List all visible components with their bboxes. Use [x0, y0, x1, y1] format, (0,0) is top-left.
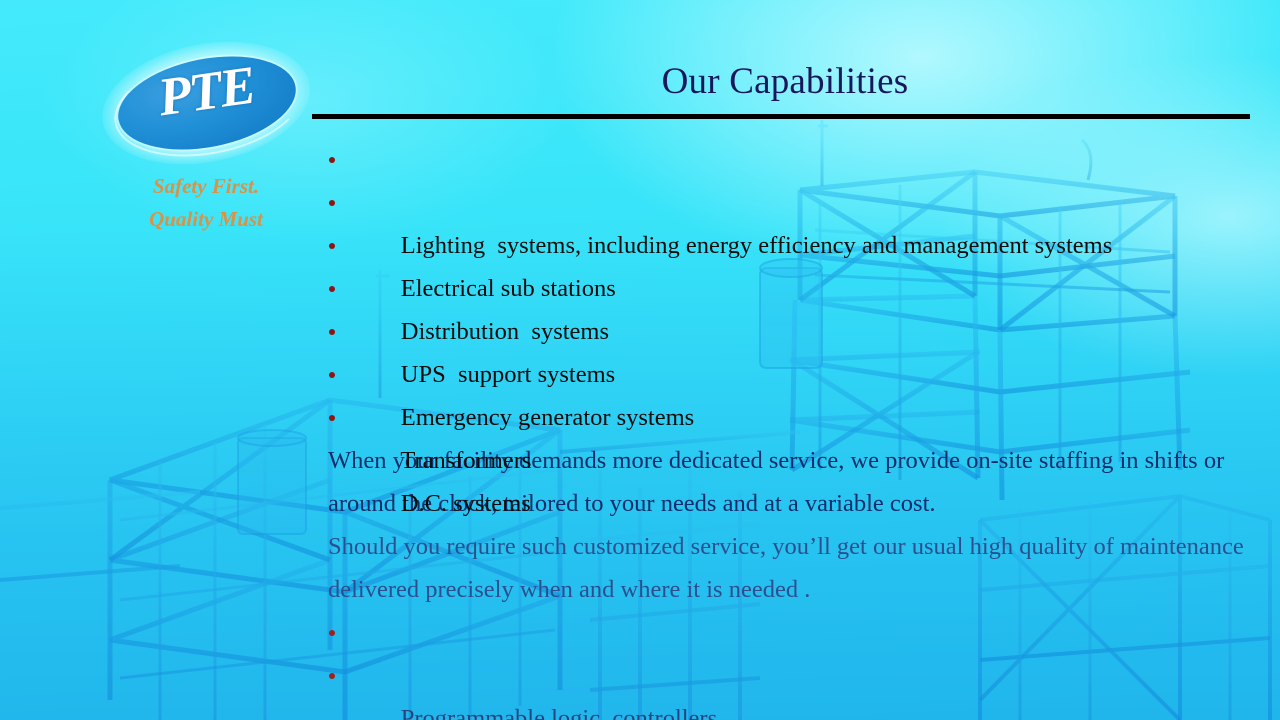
page-title: Our Capabilities — [310, 62, 1260, 103]
logo-tagline-line-2: Quality Must — [96, 203, 316, 236]
content-body: Lighting systems, including energy effic… — [328, 138, 1258, 697]
bullet-dot-icon — [329, 372, 335, 378]
list-item: D.C. systems — [328, 396, 1258, 439]
logo-tagline-line-1: Safety First. — [96, 170, 316, 203]
bullet-dot-icon — [329, 415, 335, 421]
bullet-dot-icon — [329, 630, 335, 636]
bullet-dot-icon — [329, 200, 335, 206]
list-item-label: Transformers — [400, 447, 531, 474]
list-item: Transformers — [328, 353, 1258, 396]
logo-mark: PTE — [101, 44, 311, 162]
paragraph-line: Should you require such customized servi… — [328, 525, 1258, 568]
list-item: Life safety system, fire alarm, PA syste… — [328, 654, 1258, 697]
list-item: Electrical sub stations — [328, 181, 1258, 224]
bullet-dot-icon — [329, 243, 335, 249]
list-item-label: D.C. systems — [401, 490, 531, 517]
list-item: Lighting systems, including energy effic… — [328, 138, 1258, 181]
list-item-label: Programmable logic controllers — [401, 705, 717, 720]
paragraph-line: delivered precisely when and where it is… — [328, 568, 1258, 611]
list-item: Distribution systems — [328, 224, 1258, 267]
title-divider — [312, 114, 1250, 119]
bullet-dot-icon — [329, 157, 335, 163]
logo-tagline: Safety First. Quality Must — [96, 170, 316, 236]
bullet-dot-icon — [329, 286, 335, 292]
list-item: UPS support systems — [328, 267, 1258, 310]
slide-canvas: PTE Safety First. Quality Must Our Capab… — [0, 0, 1280, 720]
bullet-dot-icon — [329, 673, 335, 679]
list-item: Programmable logic controllers — [328, 611, 1258, 654]
list-item: Emergency generator systems — [328, 310, 1258, 353]
bullet-dot-icon — [329, 329, 335, 335]
company-logo: PTE Safety First. Quality Must — [96, 44, 316, 236]
